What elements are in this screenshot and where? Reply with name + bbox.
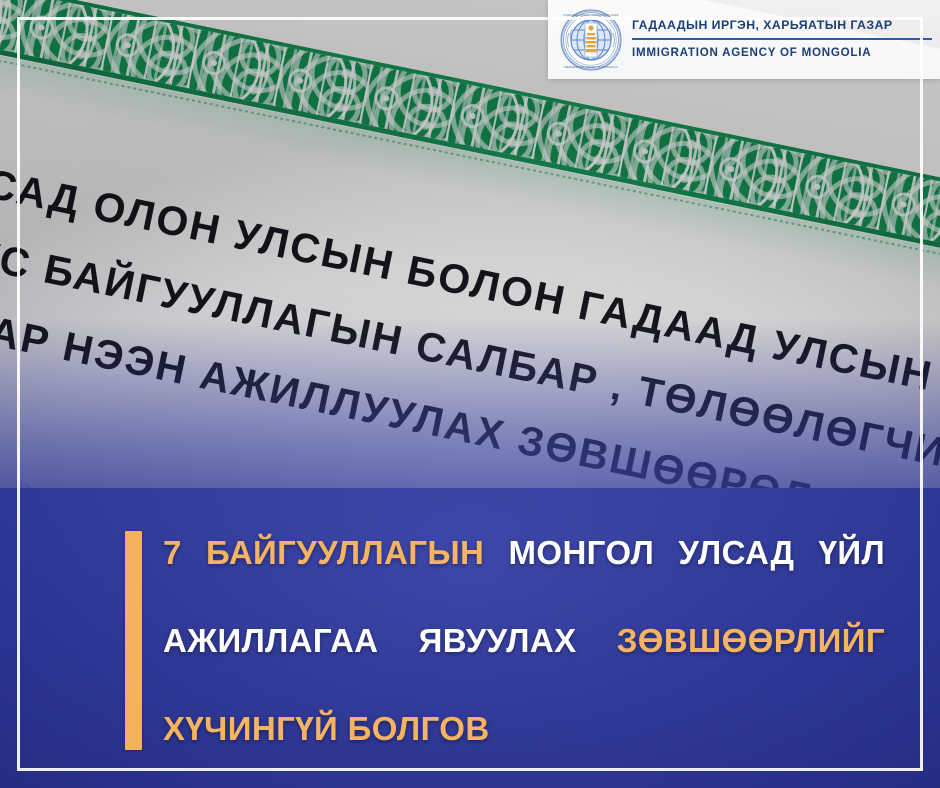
headline-word: ЗӨВШӨӨРЛИЙГ (617, 622, 885, 659)
agency-header-banner: ГАДААДЫН ИРГЭН, ХАРЬЯАТЫН ГАЗАР IMMIGRAT… (548, 0, 940, 79)
headline-line-3: ХҮЧИНГҮЙ БОЛГОВ (163, 707, 885, 751)
svg-text:IMMIGRATION AGENCY OF MONGOLIA: IMMIGRATION AGENCY OF MONGOLIA (564, 65, 617, 69)
headline-word: УЛСАД (678, 534, 794, 571)
headline-word: АЖИЛЛАГАА (163, 622, 378, 659)
headline-word: ҮЙЛ (819, 534, 885, 571)
headline-word: 7 (163, 534, 182, 571)
headline-accent-bar (125, 531, 142, 750)
headline-word: БОЛГОВ (348, 710, 490, 747)
agency-name-mn: ГАДААДЫН ИРГЭН, ХАРЬЯАТЫН ГАЗАР (632, 18, 932, 38)
headline-word: БАЙГУУЛЛАГЫН (206, 534, 484, 571)
headline-line-2: АЖИЛЛАГАА ЯВУУЛАХ ЗӨВШӨӨРЛИЙГ (163, 619, 885, 707)
headline-line-1: 7 БАЙГУУЛЛАГЫН МОНГОЛ УЛСАД ҮЙЛ (163, 531, 885, 619)
agency-name-block: ГАДААДЫН ИРГЭН, ХАРЬЯАТЫН ГАЗАР IMMIGRAT… (632, 18, 940, 61)
news-poster: МОНГОЛ УЛСАД ОЛОН УЛСЫН БОЛОН ГАДААД УЛС… (0, 0, 940, 788)
agency-name-en: IMMIGRATION AGENCY OF MONGOLIA (632, 40, 932, 60)
svg-text:ГАДААДЫН ИРГЭН, ХАРЬЯАТЫН ГАЗА: ГАДААДЫН ИРГЭН, ХАРЬЯАТЫН ГАЗАР (563, 13, 619, 17)
headline-word: ЯВУУЛАХ (419, 622, 577, 659)
headline-word: ХҮЧИНГҮЙ (163, 710, 338, 747)
immigration-agency-globe-seal-icon: ГАДААДЫН ИРГЭН, ХАРЬЯАТЫН ГАЗАР IMMIGRAT… (560, 9, 622, 71)
headline-block: 7 БАЙГУУЛЛАГЫН МОНГОЛ УЛСАД ҮЙЛ АЖИЛЛАГА… (125, 531, 885, 750)
headline-word: МОНГОЛ (508, 534, 654, 571)
headline-text: 7 БАЙГУУЛЛАГЫН МОНГОЛ УЛСАД ҮЙЛ АЖИЛЛАГА… (163, 531, 885, 750)
